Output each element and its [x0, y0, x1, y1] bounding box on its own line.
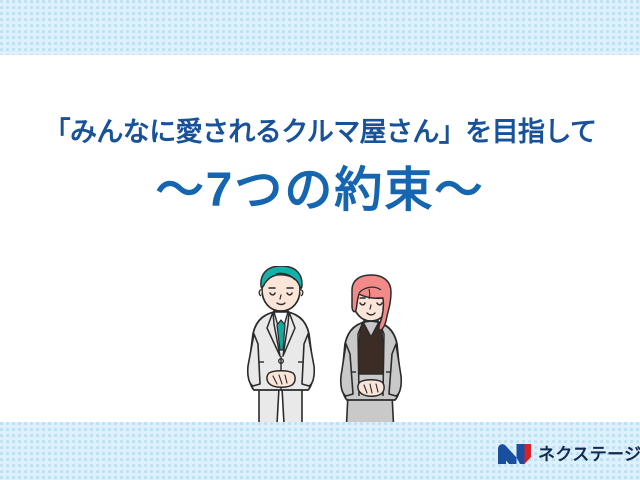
brand-wordmark: ネクステージ	[538, 446, 640, 463]
headline-secondary-text: 〜7つの約束〜	[0, 158, 640, 224]
male-staff-figure	[248, 266, 315, 424]
headline-block: 「みんなに愛されるクルマ屋さん」を目指して 〜7つの約束〜	[0, 112, 640, 224]
female-staff-figure	[341, 275, 402, 426]
top-dotted-band	[0, 0, 640, 55]
headline-primary-text: 「みんなに愛されるクルマ屋さん」を目指して	[0, 112, 640, 152]
staff-illustration	[236, 266, 416, 426]
brand-logo: ネクステージ	[498, 440, 640, 468]
promotional-banner: 「みんなに愛されるクルマ屋さん」を目指して 〜7つの約束〜	[0, 0, 640, 480]
nextage-n-logo-icon	[498, 443, 531, 465]
